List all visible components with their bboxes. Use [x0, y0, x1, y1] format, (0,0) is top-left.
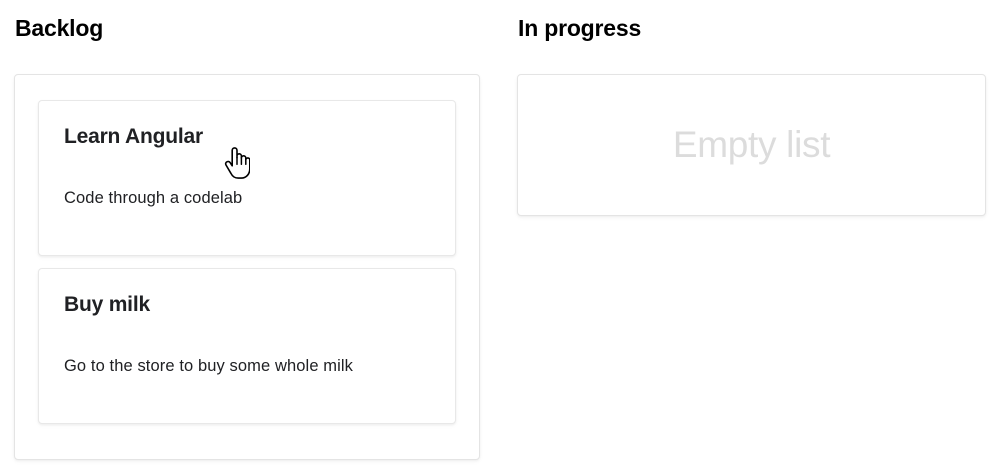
empty-list-placeholder: Empty list: [673, 124, 830, 166]
task-card-title: Learn Angular: [64, 124, 430, 150]
task-card[interactable]: Buy milk Go to the store to buy some who…: [38, 268, 456, 424]
column-in-progress: In progress Empty list: [517, 0, 986, 42]
column-title-backlog: Backlog: [14, 0, 480, 42]
column-title-in-progress: In progress: [517, 0, 986, 42]
task-card-title: Buy milk: [64, 292, 430, 318]
task-card[interactable]: Learn Angular Code through a codelab: [38, 100, 456, 256]
drop-list-in-progress[interactable]: Empty list: [517, 74, 986, 216]
kanban-board: Backlog Learn Angular Code through a cod…: [0, 0, 1000, 475]
task-card-description: Go to the store to buy some whole milk: [64, 355, 430, 377]
task-card-description: Code through a codelab: [64, 187, 430, 209]
column-backlog: Backlog Learn Angular Code through a cod…: [14, 0, 480, 42]
drop-list-backlog[interactable]: Learn Angular Code through a codelab Buy…: [14, 74, 480, 460]
